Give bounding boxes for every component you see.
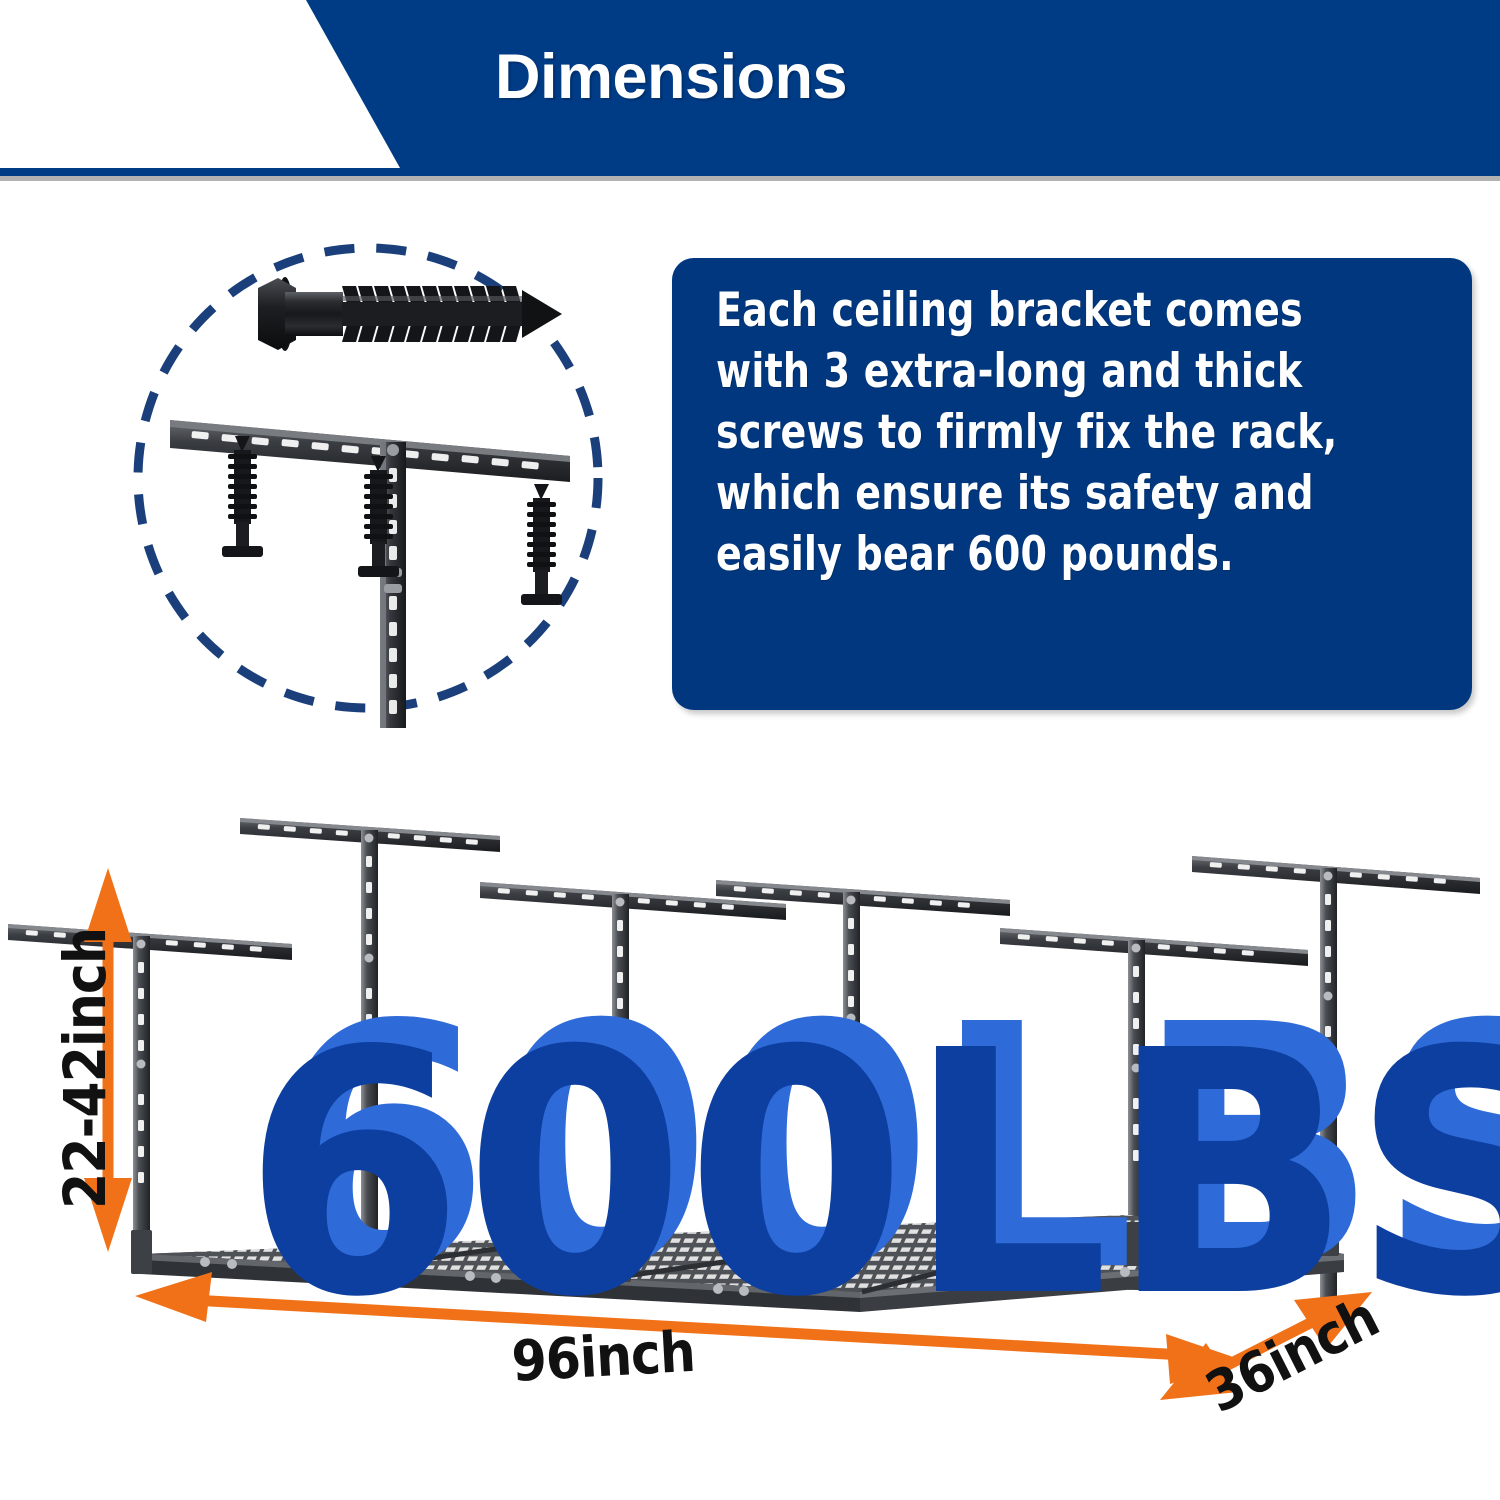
page-title: Dimensions [495, 46, 847, 109]
wire-mesh-deck [141, 1215, 1344, 1312]
width-dimension-label: 96inch [510, 1320, 696, 1395]
feature-callout-box: Each ceiling bracket comes with 3 extra-… [672, 258, 1472, 710]
header-banner: Dimensions [0, 0, 1500, 176]
ceiling-bracket [480, 882, 786, 1262]
header-divider-rule [0, 176, 1500, 181]
mounting-screw-icon-3 [521, 484, 562, 605]
hex-lag-screw-icon [258, 277, 562, 351]
infographic-canvas: Dimensions [0, 0, 1500, 1500]
height-dimension-label: 22-42inch [51, 979, 119, 1209]
garage-rack-illustration [0, 760, 1500, 1380]
header-white-wedge [0, 0, 400, 168]
hardware-callout [118, 228, 618, 728]
feature-callout-text: Each ceiling bracket comes with 3 extra-… [716, 280, 1360, 585]
ceiling-bracket [240, 818, 500, 1285]
